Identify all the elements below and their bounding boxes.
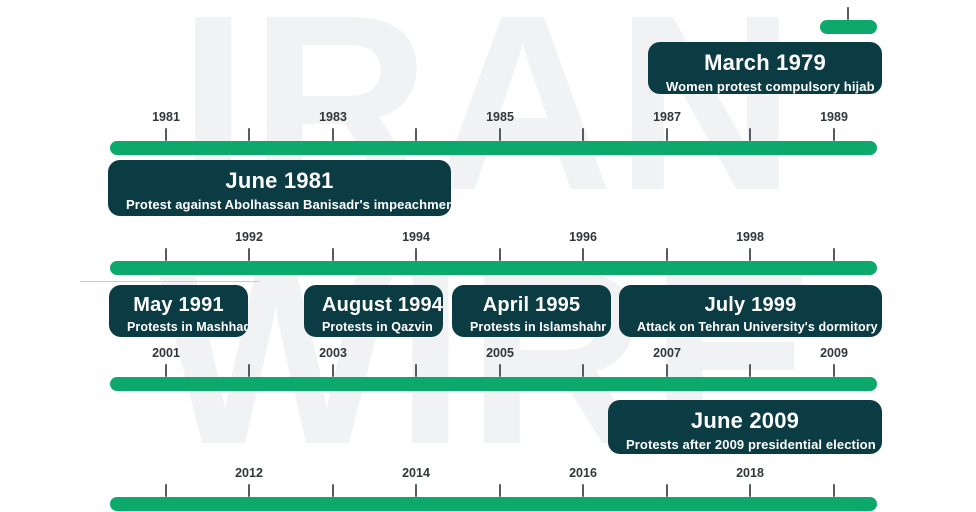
timeline-tick bbox=[833, 128, 835, 141]
year-label: 1992 bbox=[235, 230, 263, 244]
connector-line bbox=[80, 281, 260, 282]
event-description: Protest against Abolhassan Banisadr's im… bbox=[126, 197, 433, 213]
year-label: 2014 bbox=[402, 466, 430, 480]
year-label: 1989 bbox=[820, 110, 848, 124]
timeline-tick bbox=[666, 484, 668, 497]
year-label: 1996 bbox=[569, 230, 597, 244]
year-label: 2012 bbox=[235, 466, 263, 480]
year-label: 1987 bbox=[653, 110, 681, 124]
timeline-tick bbox=[582, 364, 584, 377]
timeline-tick bbox=[165, 484, 167, 497]
year-label: 1998 bbox=[736, 230, 764, 244]
timeline-tick bbox=[332, 128, 334, 141]
event-card[interactable]: May 1991Protests in Mashhad bbox=[109, 285, 248, 337]
timeline-bar bbox=[110, 141, 877, 155]
event-date: June 1981 bbox=[126, 169, 433, 193]
timeline-tick bbox=[499, 248, 501, 261]
year-label: 2003 bbox=[319, 346, 347, 360]
event-description: Protests after 2009 presidential electio… bbox=[626, 437, 864, 453]
event-card[interactable]: August 1994Protests in Qazvin bbox=[304, 285, 443, 337]
event-date: June 2009 bbox=[626, 409, 864, 433]
event-date: May 1991 bbox=[127, 294, 230, 316]
event-date: July 1999 bbox=[637, 294, 864, 316]
event-card[interactable]: June 2009Protests after 2009 presidentia… bbox=[608, 400, 882, 454]
timeline-tick bbox=[749, 248, 751, 261]
timeline-tick bbox=[833, 248, 835, 261]
timeline-tick bbox=[415, 484, 417, 497]
timeline-tick bbox=[499, 484, 501, 497]
timeline-tick bbox=[499, 364, 501, 377]
timeline-tick bbox=[415, 128, 417, 141]
event-description: Attack on Tehran University's dormitory bbox=[637, 320, 864, 335]
timeline-tick bbox=[415, 364, 417, 377]
timeline-tick bbox=[165, 364, 167, 377]
event-date: March 1979 bbox=[666, 51, 864, 75]
timeline-infographic: IRAN WIRE 197919811983198519871989199219… bbox=[0, 0, 976, 512]
event-description: Protests in Qazvin bbox=[322, 320, 425, 335]
event-description: Protests in Mashhad bbox=[127, 320, 230, 335]
timeline-tick bbox=[415, 248, 417, 261]
timeline-tick bbox=[332, 364, 334, 377]
year-label: 1983 bbox=[319, 110, 347, 124]
timeline-tick bbox=[248, 248, 250, 261]
event-date: April 1995 bbox=[470, 294, 593, 316]
timeline-tick bbox=[749, 128, 751, 141]
timeline-tick bbox=[499, 128, 501, 141]
timeline-tick bbox=[749, 364, 751, 377]
event-card[interactable]: March 1979Women protest compulsory hijab bbox=[648, 42, 882, 94]
timeline-bar bbox=[110, 377, 877, 391]
timeline-tick bbox=[248, 128, 250, 141]
timeline-tick bbox=[749, 484, 751, 497]
timeline-tick bbox=[165, 128, 167, 141]
timeline-tick bbox=[165, 248, 167, 261]
event-description: Protests in Islamshahr bbox=[470, 320, 593, 335]
timeline-bar bbox=[820, 20, 877, 34]
timeline-tick bbox=[582, 248, 584, 261]
timeline-tick bbox=[332, 248, 334, 261]
year-label: 2018 bbox=[736, 466, 764, 480]
event-card[interactable]: April 1995Protests in Islamshahr bbox=[452, 285, 611, 337]
year-label: 2009 bbox=[820, 346, 848, 360]
timeline-tick bbox=[582, 484, 584, 497]
timeline-tick bbox=[582, 128, 584, 141]
timeline-tick bbox=[248, 364, 250, 377]
year-label: 1979 bbox=[834, 0, 862, 3]
timeline-bar bbox=[110, 497, 877, 511]
event-date: August 1994 bbox=[322, 294, 425, 316]
year-label: 2007 bbox=[653, 346, 681, 360]
year-label: 1985 bbox=[486, 110, 514, 124]
timeline-tick bbox=[666, 364, 668, 377]
year-label: 2005 bbox=[486, 346, 514, 360]
timeline-tick bbox=[833, 484, 835, 497]
year-label: 2001 bbox=[152, 346, 180, 360]
timeline-tick bbox=[332, 484, 334, 497]
timeline-tick bbox=[847, 7, 849, 20]
timeline-tick bbox=[248, 484, 250, 497]
event-card[interactable]: July 1999Attack on Tehran University's d… bbox=[619, 285, 882, 337]
timeline-bar bbox=[110, 261, 877, 275]
event-description: Women protest compulsory hijab bbox=[666, 79, 864, 94]
timeline-tick bbox=[666, 128, 668, 141]
year-label: 2016 bbox=[569, 466, 597, 480]
event-card[interactable]: June 1981Protest against Abolhassan Bani… bbox=[108, 160, 451, 216]
timeline-tick bbox=[666, 248, 668, 261]
year-label: 1994 bbox=[402, 230, 430, 244]
timeline-tick bbox=[833, 364, 835, 377]
year-label: 1981 bbox=[152, 110, 180, 124]
